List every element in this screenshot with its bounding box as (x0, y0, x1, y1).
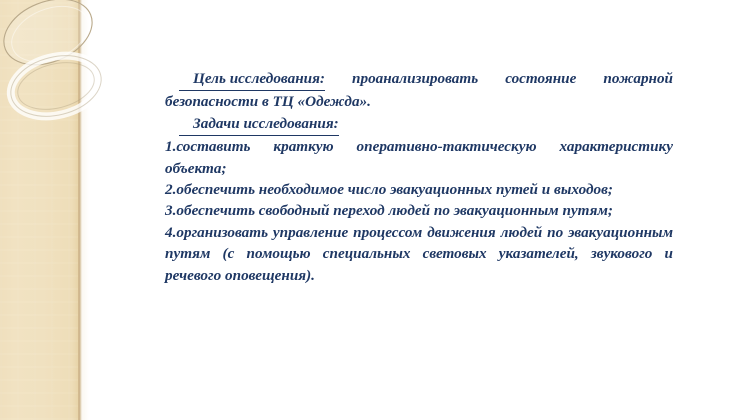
slide-text-block: Цель исследования: проанализировать сост… (165, 68, 673, 286)
task-item-4: 4.организовать управление процессом движ… (165, 222, 673, 286)
band-texture-overlay (0, 0, 78, 420)
band-right-edge-highlight (82, 0, 89, 420)
slide-canvas: Цель исследования: проанализировать сост… (0, 0, 750, 420)
task-item-2: 2.обеспечить необходимое число эвакуацио… (165, 179, 673, 200)
tasks-heading-paragraph: Задачи исследования: (165, 113, 673, 136)
goal-label: Цель исследования: (179, 68, 325, 91)
task-item-1: 1.составить краткую оперативно-тактическ… (165, 136, 673, 179)
task-item-3: 3.обеспечить свободный переход людей по … (165, 200, 673, 221)
goal-paragraph: Цель исследования: проанализировать сост… (165, 68, 673, 113)
tasks-label: Задачи исследования: (179, 113, 339, 136)
